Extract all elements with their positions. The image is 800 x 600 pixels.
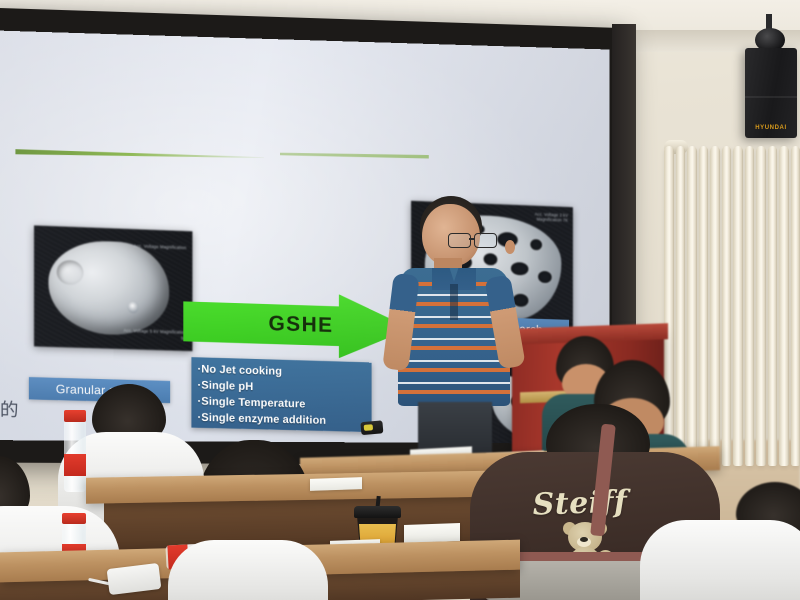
lecture-hall-photo: HYUNDAI Acc. Voltage Magnification Acc. … [0,0,800,600]
student-shirt [168,540,328,600]
cup-lid [354,506,401,518]
student-white-front [168,510,328,600]
student-right-front [640,486,800,600]
speaker-seam [745,96,797,98]
wall-speaker: HYUNDAI [745,48,797,138]
student-shirt [640,520,800,600]
steiff-logo-text: Steiff [513,484,646,524]
presenter-placket [450,284,458,320]
papers [404,523,460,543]
papers [310,477,362,491]
presentation-clicker [360,420,383,435]
presenter-ear [505,240,515,254]
speaker-brand-label: HYUNDAI [745,125,797,131]
presenter-head [422,204,480,266]
glasses-icon [448,233,500,246]
